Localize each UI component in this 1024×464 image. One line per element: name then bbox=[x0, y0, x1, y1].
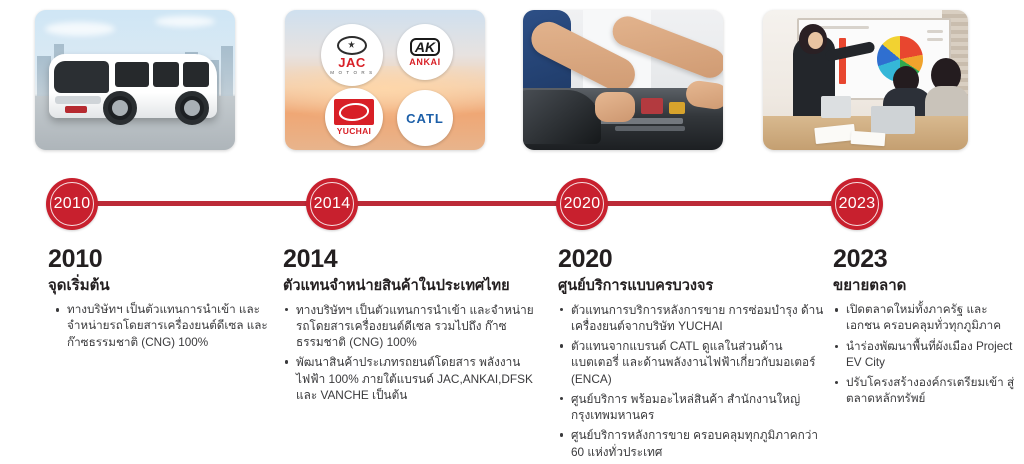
milestone-points: ทางบริษัทฯ เป็นตัวแทนการนำเข้า และจำหน่า… bbox=[54, 302, 273, 350]
milestone-points: เปิดตลาดใหม่ทั้งภาครัฐ และเอกชน ครอบคลุม… bbox=[833, 302, 1019, 407]
timeline-node-label: 2023 bbox=[839, 195, 876, 213]
milestone-subtitle: ศูนย์บริการแบบครบวงจร bbox=[558, 277, 830, 295]
list-item: ตัวแทนจากแบรนด์ CATL ดูแลในส่วนด้านแบตเต… bbox=[558, 338, 830, 387]
ankai-mark-icon: AK bbox=[410, 38, 440, 56]
jac-logo: JAC M O T O R S bbox=[321, 24, 383, 86]
minibus-photo bbox=[35, 10, 235, 150]
list-item: ปรับโครงสร้างองค์กรเตรียมเข้า สู่ตลาดหลั… bbox=[833, 375, 1019, 407]
yuchai-mark-icon bbox=[334, 99, 374, 125]
milestone-column-2023: 2023 ขยายตลาด เปิดตลาดใหม่ทั้งภาครัฐ และ… bbox=[833, 246, 1019, 411]
jac-sub-label: M O T O R S bbox=[330, 70, 373, 75]
timeline-infographic: JAC M O T O R S AK ANKAI YUCHAI CATL bbox=[0, 0, 1024, 437]
list-item: ตัวแทนการบริการหลังการขาย การซ่อมบำรุง ด… bbox=[558, 302, 830, 335]
list-item: พัฒนาสินค้าประเภทรถยนต์โดยสาร พลังงานไฟฟ… bbox=[283, 354, 538, 403]
image-card-minibus bbox=[35, 10, 235, 150]
catl-logo: CATL bbox=[397, 90, 453, 146]
milestone-points: ตัวแทนการบริการหลังการขาย การซ่อมบำรุง ด… bbox=[558, 302, 830, 460]
milestone-year: 2020 bbox=[558, 246, 830, 274]
timeline-node-2014[interactable]: 2014 bbox=[306, 178, 358, 230]
milestone-column-2010: 2010 จุดเริ่มต้น ทางบริษัทฯ เป็นตัวแทนกา… bbox=[48, 246, 273, 355]
image-card-presentation bbox=[763, 10, 968, 150]
list-item: ทางบริษัทฯ เป็นตัวแทนการนำเข้า และจำหน่า… bbox=[54, 302, 273, 350]
ankai-label: ANKAI bbox=[409, 58, 441, 67]
list-item: นำร่องพัฒนาพื้นที่ผังเมือง Project EV Ci… bbox=[833, 339, 1019, 371]
timeline-node-2020[interactable]: 2020 bbox=[556, 178, 608, 230]
jac-label: JAC bbox=[338, 56, 366, 69]
timeline-node-2023[interactable]: 2023 bbox=[831, 178, 883, 230]
milestone-subtitle: จุดเริ่มต้น bbox=[48, 277, 273, 296]
image-card-mechanic bbox=[523, 10, 723, 150]
timeline-node-label: 2020 bbox=[564, 195, 601, 213]
catl-label: CATL bbox=[406, 112, 444, 125]
jac-star-icon bbox=[337, 36, 367, 55]
timeline-axis bbox=[72, 201, 857, 206]
milestone-points: ทางบริษัทฯ เป็นตัวแทนการนำเข้า และจำหน่า… bbox=[283, 302, 538, 404]
list-item: ศูนย์บริการหลังการขาย ครอบคลุมทุกภูมิภาค… bbox=[558, 427, 830, 460]
milestone-year: 2014 bbox=[283, 246, 538, 274]
list-item: ทางบริษัทฯ เป็นตัวแทนการนำเข้า และจำหน่า… bbox=[283, 302, 538, 351]
mechanic-photo bbox=[523, 10, 723, 150]
timeline-node-label: 2010 bbox=[54, 195, 91, 213]
brand-logos-photo: JAC M O T O R S AK ANKAI YUCHAI CATL bbox=[285, 10, 485, 150]
milestone-column-2020: 2020 ศูนย์บริการแบบครบวงจร ตัวแทนการบริก… bbox=[558, 246, 830, 464]
timeline-node-label: 2014 bbox=[314, 195, 351, 213]
timeline-node-2010[interactable]: 2010 bbox=[46, 178, 98, 230]
yuchai-label: YUCHAI bbox=[337, 127, 371, 136]
ankai-logo: AK ANKAI bbox=[397, 24, 453, 80]
milestone-column-2014: 2014 ตัวแทนจำหน่ายสินค้าในประเทศไทย ทางบ… bbox=[283, 246, 538, 407]
list-item: ศูนย์บริการ พร้อมอะไหล่สินค้า สำนักงานให… bbox=[558, 391, 830, 424]
milestone-subtitle: ตัวแทนจำหน่ายสินค้าในประเทศไทย bbox=[283, 277, 538, 295]
laptop-icon bbox=[871, 106, 915, 134]
image-card-row: JAC M O T O R S AK ANKAI YUCHAI CATL bbox=[0, 0, 1024, 160]
presentation-photo bbox=[763, 10, 968, 150]
image-card-brand-logos: JAC M O T O R S AK ANKAI YUCHAI CATL bbox=[285, 10, 485, 150]
milestone-subtitle: ขยายตลาด bbox=[833, 277, 1019, 296]
milestone-year: 2010 bbox=[48, 246, 273, 274]
milestone-year: 2023 bbox=[833, 246, 1019, 274]
yuchai-logo: YUCHAI bbox=[325, 88, 383, 146]
list-item: เปิดตลาดใหม่ทั้งภาครัฐ และเอกชน ครอบคลุม… bbox=[833, 302, 1019, 334]
